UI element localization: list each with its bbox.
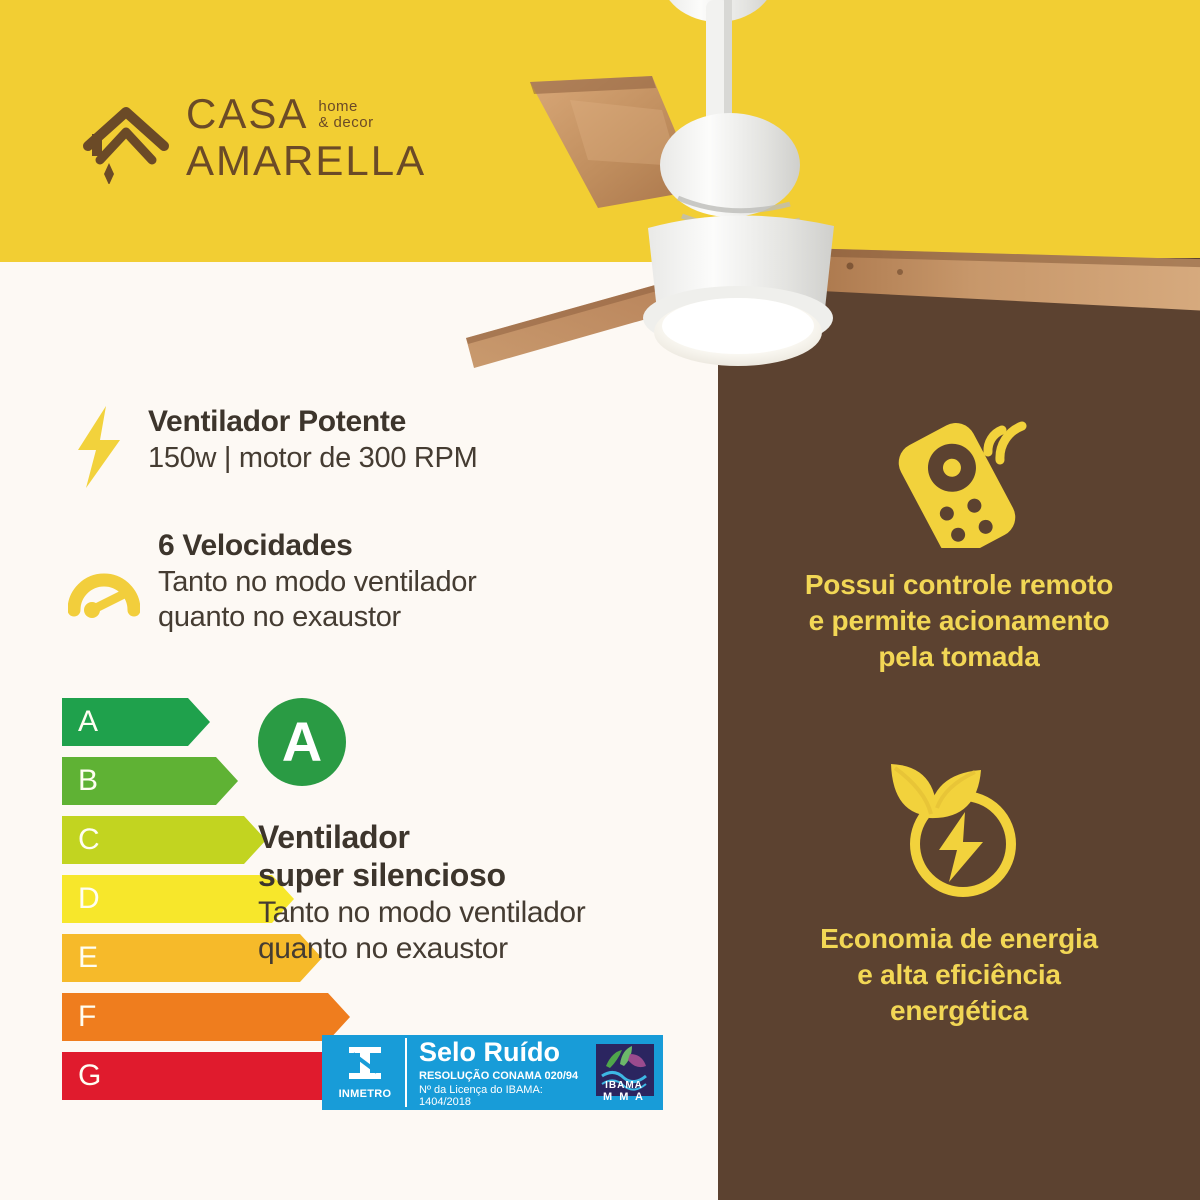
inmetro-logo-icon <box>345 1045 385 1086</box>
logo-tagline-line2: & decor <box>318 114 373 131</box>
remote-caption-line2: e permite acionamento <box>805 603 1113 639</box>
seal-license-line: Nº da Licença do IBAMA: 1404/2018 <box>419 1084 588 1108</box>
brand-logo[interactable]: CASA home & decor AMARELLA <box>80 88 500 193</box>
eco-caption-line3: energética <box>820 993 1098 1029</box>
speedometer-icon <box>68 528 140 639</box>
infographic-page: CASA home & decor AMARELLA Ventilador Po… <box>0 0 1200 1200</box>
energy-bar-a: A <box>62 698 210 746</box>
logo-tagline: home & decor <box>318 99 373 135</box>
logo-tagline-line1: home <box>318 98 358 115</box>
seal-text-block: Selo Ruído RESOLUÇÃO CONAMA 020/94 Nº da… <box>407 1038 588 1107</box>
eco-caption-line1: Economia de energia <box>820 921 1098 957</box>
silent-title-line1: Ventilador <box>258 818 708 856</box>
feature-subtitle-line1: Tanto no modo ventilador <box>158 565 476 600</box>
silent-text-block: Ventilador super silencioso Tanto no mod… <box>258 818 708 967</box>
logo-casa-text: CASA <box>186 93 308 135</box>
ibama-block: IBAMA M M A <box>588 1038 660 1107</box>
ibama-label: IBAMA <box>605 1080 643 1091</box>
energy-bar-c: C <box>62 816 266 864</box>
right-brown-panel <box>718 258 1200 1200</box>
lightning-bolt-icon <box>68 404 130 495</box>
energy-bar-row: G <box>62 1052 312 1100</box>
eco-energy-leaf-icon <box>879 752 1039 907</box>
silent-title-line2: super silencioso <box>258 856 708 894</box>
eco-caption-line2: e alta eficiência <box>820 957 1098 993</box>
energy-bar-f: F <box>62 993 350 1041</box>
remote-caption-line1: Possui controle remoto <box>805 567 1113 603</box>
inmetro-block: INMETRO <box>325 1038 407 1107</box>
silent-subtitle-line2: quanto no exaustor <box>258 931 708 967</box>
house-roof-icon <box>80 98 172 184</box>
remote-control-icon <box>884 412 1034 553</box>
remote-caption-line3: pela tomada <box>805 639 1113 675</box>
feature-subtitle-line2: quanto no exaustor <box>158 600 476 635</box>
inmetro-label: INMETRO <box>339 1088 392 1100</box>
energy-bar-b: B <box>62 757 238 805</box>
seal-resolution-line: RESOLUÇÃO CONAMA 020/94 <box>419 1070 588 1082</box>
right-block-eco-energy: Economia de energia e alta eficiência en… <box>718 752 1200 1028</box>
mma-label: M M A <box>603 1091 645 1103</box>
feature-ventilador-potente: Ventilador Potente 150w | motor de 300 R… <box>68 404 477 495</box>
silent-subtitle-line1: Tanto no modo ventilador <box>258 895 708 931</box>
energy-bar-row: F <box>62 993 312 1041</box>
feature-title: 6 Velocidades <box>158 528 476 565</box>
logo-amarella-text: AMARELLA <box>186 137 426 184</box>
remote-caption: Possui controle remoto e permite acionam… <box>805 567 1113 674</box>
selo-ruido-seal: INMETRO Selo Ruído RESOLUÇÃO CONAMA 020/… <box>322 1035 663 1110</box>
seal-title: Selo Ruído <box>419 1039 588 1066</box>
feature-title: Ventilador Potente <box>148 404 477 441</box>
feature-subtitle: 150w | motor de 300 RPM <box>148 441 477 476</box>
energy-grade-badge: A <box>258 698 346 786</box>
feature-6-velocidades: 6 Velocidades Tanto no modo ventilador q… <box>68 528 476 639</box>
right-block-remote-control: Possui controle remoto e permite acionam… <box>718 412 1200 674</box>
eco-caption: Economia de energia e alta eficiência en… <box>820 921 1098 1028</box>
